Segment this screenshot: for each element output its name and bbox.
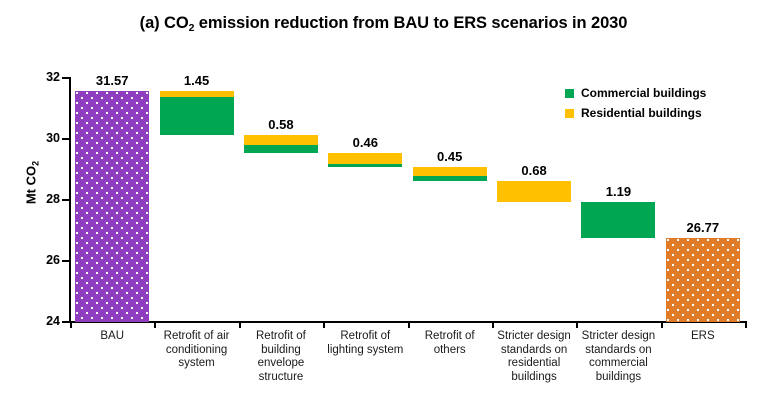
bar-segment-total (666, 238, 740, 322)
legend-item-residential[interactable]: Residential buildings (565, 106, 706, 120)
chart-root: (a) CO2 emission reduction from BAU to E… (0, 0, 767, 400)
y-axis-title-subscript: 2 (31, 161, 41, 166)
legend-swatch-residential-icon (565, 109, 574, 118)
y-axis-tick-label: 26 (20, 253, 60, 267)
bar-segment-total (75, 91, 149, 322)
x-axis-category-label: Retrofit ofothers (408, 330, 492, 357)
chart-title: (a) CO2 emission reduction from BAU to E… (0, 14, 767, 33)
x-axis-tick (154, 321, 156, 328)
y-axis-tick (62, 138, 70, 140)
chart-legend: Commercial buildings Residential buildin… (565, 86, 706, 126)
x-axis-category-label: Stricter designstandards onresidentialbu… (492, 330, 576, 384)
x-axis-tick (70, 321, 72, 328)
x-axis-category-label: BAU (70, 330, 154, 344)
y-axis-tick-label: 24 (20, 314, 60, 328)
x-axis-category-label: Stricter designstandards oncommercialbui… (576, 330, 660, 384)
x-axis-tick (745, 321, 747, 328)
x-axis-tick (576, 321, 578, 328)
bar-value-label: 0.68 (464, 163, 604, 178)
x-axis-category-label: ERS (661, 330, 745, 344)
x-axis-tick (323, 321, 325, 328)
chart-title-main: (a) CO (140, 14, 189, 32)
x-axis-category-label: Retrofit of airconditioningsystem (154, 330, 238, 371)
legend-item-commercial[interactable]: Commercial buildings (565, 86, 706, 100)
x-axis-tick (661, 321, 663, 328)
bar-1[interactable]: 31.57 (75, 91, 149, 322)
x-axis-tick (408, 321, 410, 328)
bar-segment-commercial (328, 164, 402, 167)
bar-value-label: 1.19 (548, 184, 688, 199)
y-axis-tick (62, 321, 70, 323)
y-axis-tick-label: 28 (20, 192, 60, 206)
bar-value-label: 1.45 (127, 73, 267, 88)
chart-title-subscript: 2 (189, 22, 195, 34)
y-axis-tick (62, 199, 70, 201)
x-axis-tick (492, 321, 494, 328)
y-axis-tick-label: 30 (20, 131, 60, 145)
y-axis-tick (62, 260, 70, 262)
x-axis-category-label: Retrofit ofbuildingenvelopestructure (239, 330, 323, 384)
chart-title-rest: emission reduction from BAU to ERS scena… (194, 14, 627, 32)
legend-label-commercial: Commercial buildings (581, 86, 706, 100)
legend-label-residential: Residential buildings (581, 106, 702, 120)
bar-value-label: 26.77 (633, 220, 767, 235)
legend-swatch-commercial-icon (565, 89, 574, 98)
x-axis-tick (239, 321, 241, 328)
bar-value-label: 0.58 (211, 117, 351, 132)
x-axis-category-label: Retrofit oflighting system (323, 330, 407, 357)
bar-value-label: 0.46 (295, 135, 435, 150)
bar-8[interactable]: 26.77 (666, 238, 740, 322)
